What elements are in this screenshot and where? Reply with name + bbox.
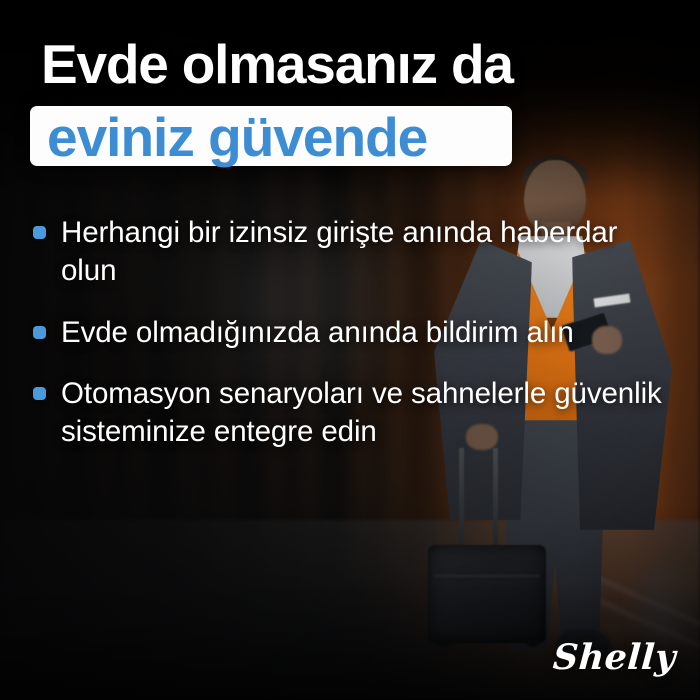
bullet-square-icon [33,387,46,400]
list-item-label: Otomasyon senaryoları ve sahnelerle güve… [61,375,669,452]
poster-content: Evde olmasanız da eviniz güvende Herhang… [0,0,700,700]
list-item-label: Evde olmadığınızda anında bildirim alın [61,314,574,352]
headline-line-2: eviniz güvende [47,110,427,165]
list-item: Herhangi bir izinsiz girişte anında habe… [33,214,673,291]
headline-line-1: Evde olmasanız da [41,37,513,92]
list-item-label: Herhangi bir izinsiz girişte anında habe… [61,214,669,291]
benefits-list: Herhangi bir izinsiz girişte anında habe… [33,214,673,475]
list-item: Otomasyon senaryoları ve sahnelerle güve… [33,375,673,452]
list-item: Evde olmadığınızda anında bildirim alın [33,314,673,352]
poster-canvas: Evde olmasanız da eviniz güvende Herhang… [0,0,700,700]
shelly-brand-logo: Shelly [552,637,678,678]
bullet-square-icon [33,326,46,339]
bullet-square-icon [33,226,46,239]
